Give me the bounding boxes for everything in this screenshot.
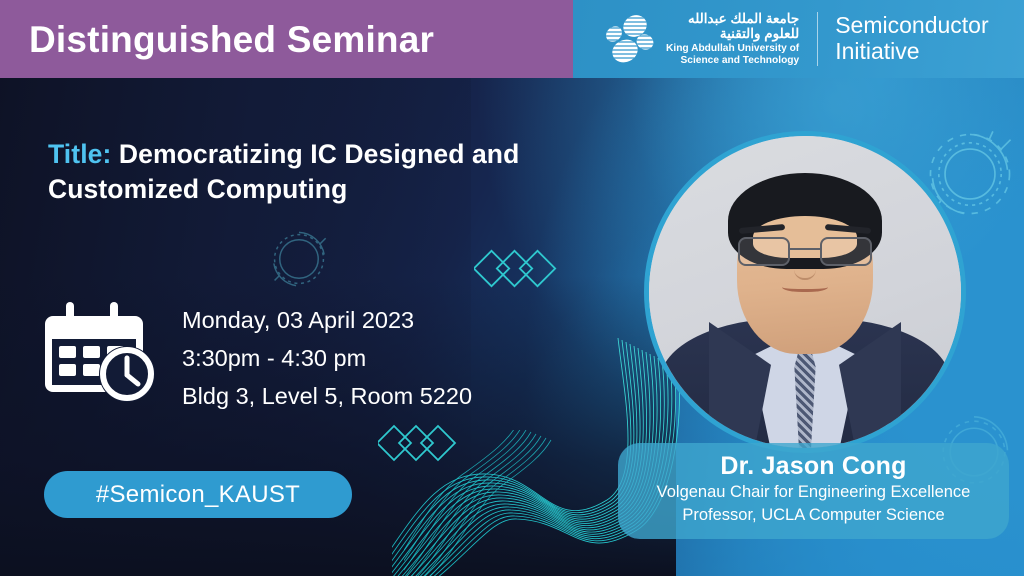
logo-band: جامعة الملك عبدالله للعلوم والتقنية King… bbox=[573, 0, 1024, 78]
page-title: Distinguished Seminar bbox=[0, 21, 434, 58]
event-time: 3:30pm - 4:30 pm bbox=[182, 339, 472, 377]
speaker-nameplate: Dr. Jason Cong Volgenau Chair for Engine… bbox=[618, 443, 1009, 539]
seminar-poster: Distinguished Seminar bbox=[0, 0, 1024, 576]
kaust-english-line-1: King Abdullah University of bbox=[666, 43, 799, 54]
speaker-portrait bbox=[644, 131, 966, 453]
hashtag-badge[interactable]: #Semicon_KAUST bbox=[44, 471, 352, 518]
initiative-wordmark: Semiconductor Initiative bbox=[835, 13, 988, 65]
calendar-clock-icon bbox=[44, 296, 162, 404]
seminar-title: Title: Democratizing IC Designed and Cus… bbox=[48, 137, 608, 207]
kaust-logo-mark-icon bbox=[601, 12, 657, 66]
initiative-line-2: Initiative bbox=[835, 39, 988, 65]
kaust-wordmark: جامعة الملك عبدالله للعلوم والتقنية King… bbox=[666, 12, 799, 65]
hashtag-label: #Semicon_KAUST bbox=[96, 481, 300, 509]
header-band: Distinguished Seminar bbox=[0, 0, 573, 78]
kaust-english-line-2: Science and Technology bbox=[681, 55, 800, 66]
event-date: Monday, 03 April 2023 bbox=[182, 301, 472, 339]
seminar-title-text: Democratizing IC Designed and Customized… bbox=[48, 139, 519, 204]
event-details: Monday, 03 April 2023 3:30pm - 4:30 pm B… bbox=[44, 296, 472, 415]
event-location: Bldg 3, Level 5, Room 5220 bbox=[182, 377, 472, 415]
speaker-role-line-1: Volgenau Chair for Engineering Excellenc… bbox=[636, 482, 991, 504]
event-detail-lines: Monday, 03 April 2023 3:30pm - 4:30 pm B… bbox=[182, 301, 472, 415]
kaust-arabic-line-2: للعلوم والتقنية bbox=[720, 27, 799, 42]
kaust-logo-lockup: جامعة الملك عبدالله للعلوم والتقنية King… bbox=[601, 12, 799, 66]
logo-divider bbox=[817, 12, 818, 66]
speaker-photo bbox=[649, 136, 961, 448]
initiative-line-1: Semiconductor bbox=[835, 13, 988, 39]
speaker-role-line-2: Professor, UCLA Computer Science bbox=[636, 505, 991, 527]
kaust-arabic-line-1: جامعة الملك عبدالله bbox=[688, 12, 799, 27]
seminar-title-label: Title: bbox=[48, 139, 111, 169]
speaker-name: Dr. Jason Cong bbox=[636, 451, 991, 481]
